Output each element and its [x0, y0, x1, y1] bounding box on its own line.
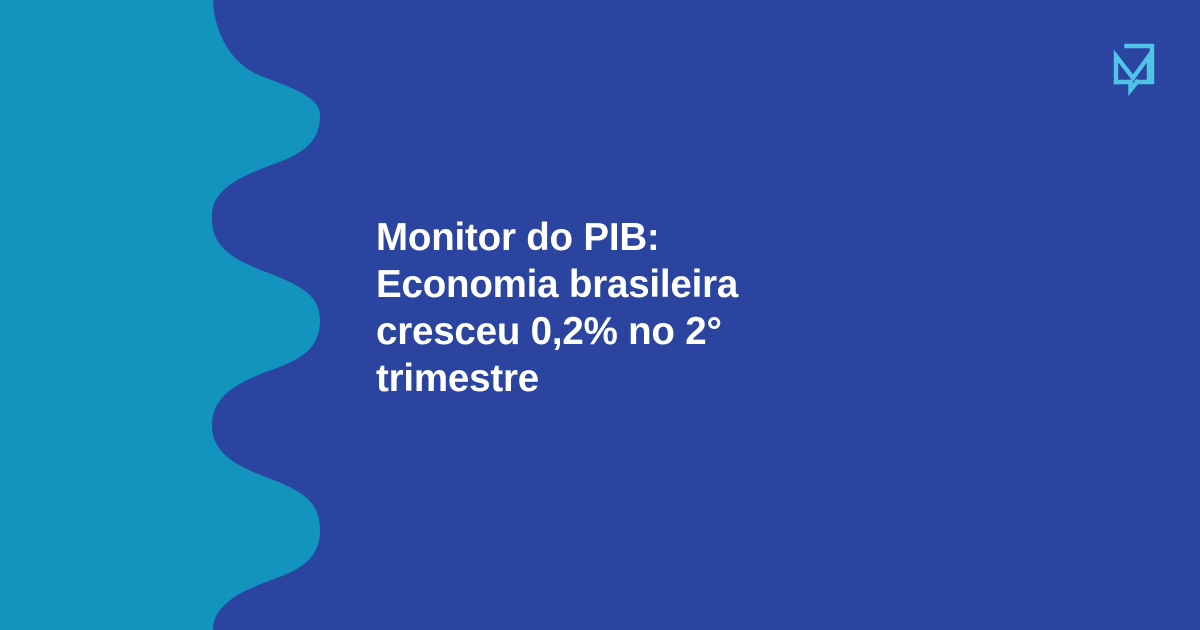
wave-shape — [0, 0, 320, 630]
page-title: Monitor do PIB: Economia brasileira cres… — [376, 214, 806, 402]
letter-m-glyph — [1116, 56, 1149, 82]
m-speech-bubble-logo — [1108, 40, 1158, 96]
teal-wave-band — [0, 0, 340, 630]
wave-texture — [0, 0, 340, 630]
social-share-card: Monitor do PIB: Economia brasileira cres… — [0, 0, 1200, 630]
